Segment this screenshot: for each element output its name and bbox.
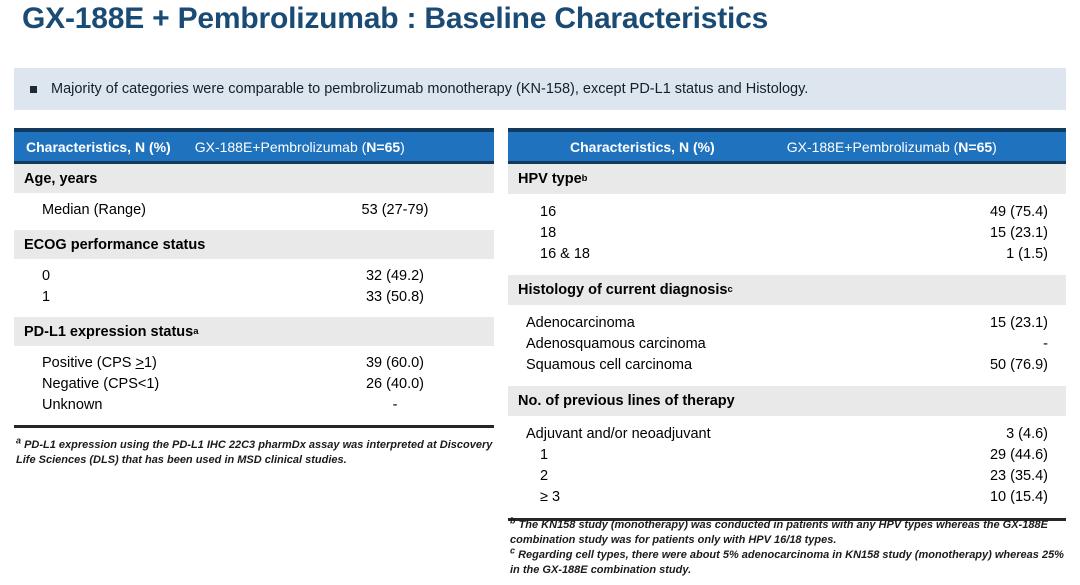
table-row: Squamous cell carcinoma50 (76.9) <box>508 355 1066 376</box>
table-row-label: 1 <box>508 445 858 466</box>
table-row-value: 39 (60.0) <box>300 353 490 374</box>
page-title: GX-188E + Pembrolizumab : Baseline Chara… <box>22 2 768 36</box>
table-section-body: 1649 (75.4)1815 (23.1)16 & 181 (1.5) <box>508 194 1066 275</box>
column-header-characteristics: Characteristics, N (%) <box>570 139 715 155</box>
table-row-label: Median (Range) <box>14 200 300 221</box>
footnote-marker-a: a <box>16 435 21 445</box>
table-row-value: - <box>300 395 490 416</box>
table-row-value: 15 (23.1) <box>858 223 1058 244</box>
table-row-label: Adenosquamous carcinoma <box>508 334 858 355</box>
table-body: HPV typeb1649 (75.4)1815 (23.1)16 & 181 … <box>508 164 1066 518</box>
table-row-value: - <box>858 334 1058 355</box>
footnote-right: b The KN158 study (monotherapy) was cond… <box>510 518 1070 578</box>
table-section-body: Adenocarcinoma15 (23.1)Adenosquamous car… <box>508 305 1066 386</box>
footnote-marker-c: c <box>510 545 515 555</box>
table-row-label: 18 <box>508 223 858 244</box>
summary-callout-text: Majority of categories were comparable t… <box>51 81 808 97</box>
table-section-header: ECOG performance status <box>14 230 494 259</box>
footnote-c-text: Regarding cell types, there were about 5… <box>510 549 1064 576</box>
table-section-header: No. of previous lines of therapy <box>508 386 1066 416</box>
table-section-body: Positive (CPS >1)39 (60.0)Negative (CPS<… <box>14 346 494 425</box>
table-row: Adjuvant and/or neoadjuvant3 (4.6) <box>508 424 1066 445</box>
column-header-characteristics: Characteristics, N (%) <box>26 139 171 155</box>
table-row-label: Negative (CPS<1) <box>14 374 300 395</box>
table-row-label: Adenocarcinoma <box>508 313 858 334</box>
table-row: 129 (44.6) <box>508 445 1066 466</box>
footnote-b: b The KN158 study (monotherapy) was cond… <box>510 518 1070 547</box>
table-section-body: Median (Range)53 (27-79) <box>14 193 494 230</box>
table-row: Median (Range)53 (27-79) <box>14 200 494 221</box>
table-row: ≥ 310 (15.4) <box>508 487 1066 508</box>
table-row-value: 32 (49.2) <box>300 266 490 287</box>
table-row: 032 (49.2) <box>14 266 494 287</box>
table-row-label: Unknown <box>14 395 300 416</box>
table-row-label: Squamous cell carcinoma <box>508 355 858 376</box>
table-header-row: Characteristics, N (%) GX-188E+Pembroliz… <box>14 128 494 164</box>
table-row-label: Positive (CPS >1) <box>14 353 300 374</box>
column-header-treatment-arm: GX-188E+Pembrolizumab (N=65) <box>787 139 997 155</box>
baseline-characteristics-table-left: Characteristics, N (%) GX-188E+Pembroliz… <box>14 128 494 428</box>
table-header-row: Characteristics, N (%) GX-188E+Pembroliz… <box>508 128 1066 164</box>
table-body: Age, yearsMedian (Range)53 (27-79)ECOG p… <box>14 164 494 425</box>
table-row-value: 10 (15.4) <box>858 487 1058 508</box>
table-row-label: 2 <box>508 466 858 487</box>
footnote-c: c Regarding cell types, there were about… <box>510 548 1070 577</box>
table-row-label: Adjuvant and/or neoadjuvant <box>508 424 858 445</box>
summary-callout: Majority of categories were comparable t… <box>14 68 1066 110</box>
footnote-marker-b: b <box>510 515 516 525</box>
table-section-header: Age, years <box>14 164 494 193</box>
table-section-header: HPV typeb <box>508 164 1066 194</box>
table-row-label: 0 <box>14 266 300 287</box>
table-row-label: 16 <box>508 202 858 223</box>
table-section-title: No. of previous lines of therapy <box>518 393 735 409</box>
footnote-b-text: The KN158 study (monotherapy) was conduc… <box>510 519 1048 546</box>
table-row-value: 1 (1.5) <box>858 244 1058 265</box>
table-row: 133 (50.8) <box>14 287 494 308</box>
table-row-value: 49 (75.4) <box>858 202 1058 223</box>
table-section-body: 032 (49.2)133 (50.8) <box>14 259 494 317</box>
table-row-label: ≥ 3 <box>508 487 858 508</box>
table-row: Positive (CPS >1)39 (60.0) <box>14 353 494 374</box>
table-row-value: 23 (35.4) <box>858 466 1058 487</box>
table-row: 16 & 181 (1.5) <box>508 244 1066 265</box>
table-row: 1815 (23.1) <box>508 223 1066 244</box>
table-section-title: Histology of current diagnosis <box>518 282 727 298</box>
footnote-left-text: PD-L1 expression using the PD-L1 IHC 22C… <box>16 439 492 466</box>
column-header-treatment-arm: GX-188E+Pembrolizumab (N=65) <box>195 139 405 155</box>
footnote-left: a PD-L1 expression using the PD-L1 IHC 2… <box>16 438 494 468</box>
table-section-title: PD-L1 expression status <box>24 324 193 340</box>
table-row-value: 33 (50.8) <box>300 287 490 308</box>
table-row: 223 (35.4) <box>508 466 1066 487</box>
table-section-body: Adjuvant and/or neoadjuvant3 (4.6)129 (4… <box>508 416 1066 518</box>
table-row-value: 3 (4.6) <box>858 424 1058 445</box>
table-section-header: PD-L1 expression statusa <box>14 317 494 346</box>
table-section-title: HPV type <box>518 171 582 187</box>
table-row-value: 15 (23.1) <box>858 313 1058 334</box>
table-row: Adenocarcinoma15 (23.1) <box>508 313 1066 334</box>
table-row: Unknown- <box>14 395 494 416</box>
table-row: 1649 (75.4) <box>508 202 1066 223</box>
table-section-title: Age, years <box>24 171 97 187</box>
baseline-characteristics-table-right: Characteristics, N (%) GX-188E+Pembroliz… <box>508 128 1066 521</box>
table-row-value: 50 (76.9) <box>858 355 1058 376</box>
table-row-label: 1 <box>14 287 300 308</box>
table-row-value: 29 (44.6) <box>858 445 1058 466</box>
table-row: Adenosquamous carcinoma- <box>508 334 1066 355</box>
table-row-label: 16 & 18 <box>508 244 858 265</box>
square-bullet-icon <box>30 86 37 93</box>
table-row-value: 53 (27-79) <box>300 200 490 221</box>
table-section-header: Histology of current diagnosisc <box>508 275 1066 305</box>
table-row: Negative (CPS<1)26 (40.0) <box>14 374 494 395</box>
table-row-value: 26 (40.0) <box>300 374 490 395</box>
table-section-title: ECOG performance status <box>24 237 205 253</box>
